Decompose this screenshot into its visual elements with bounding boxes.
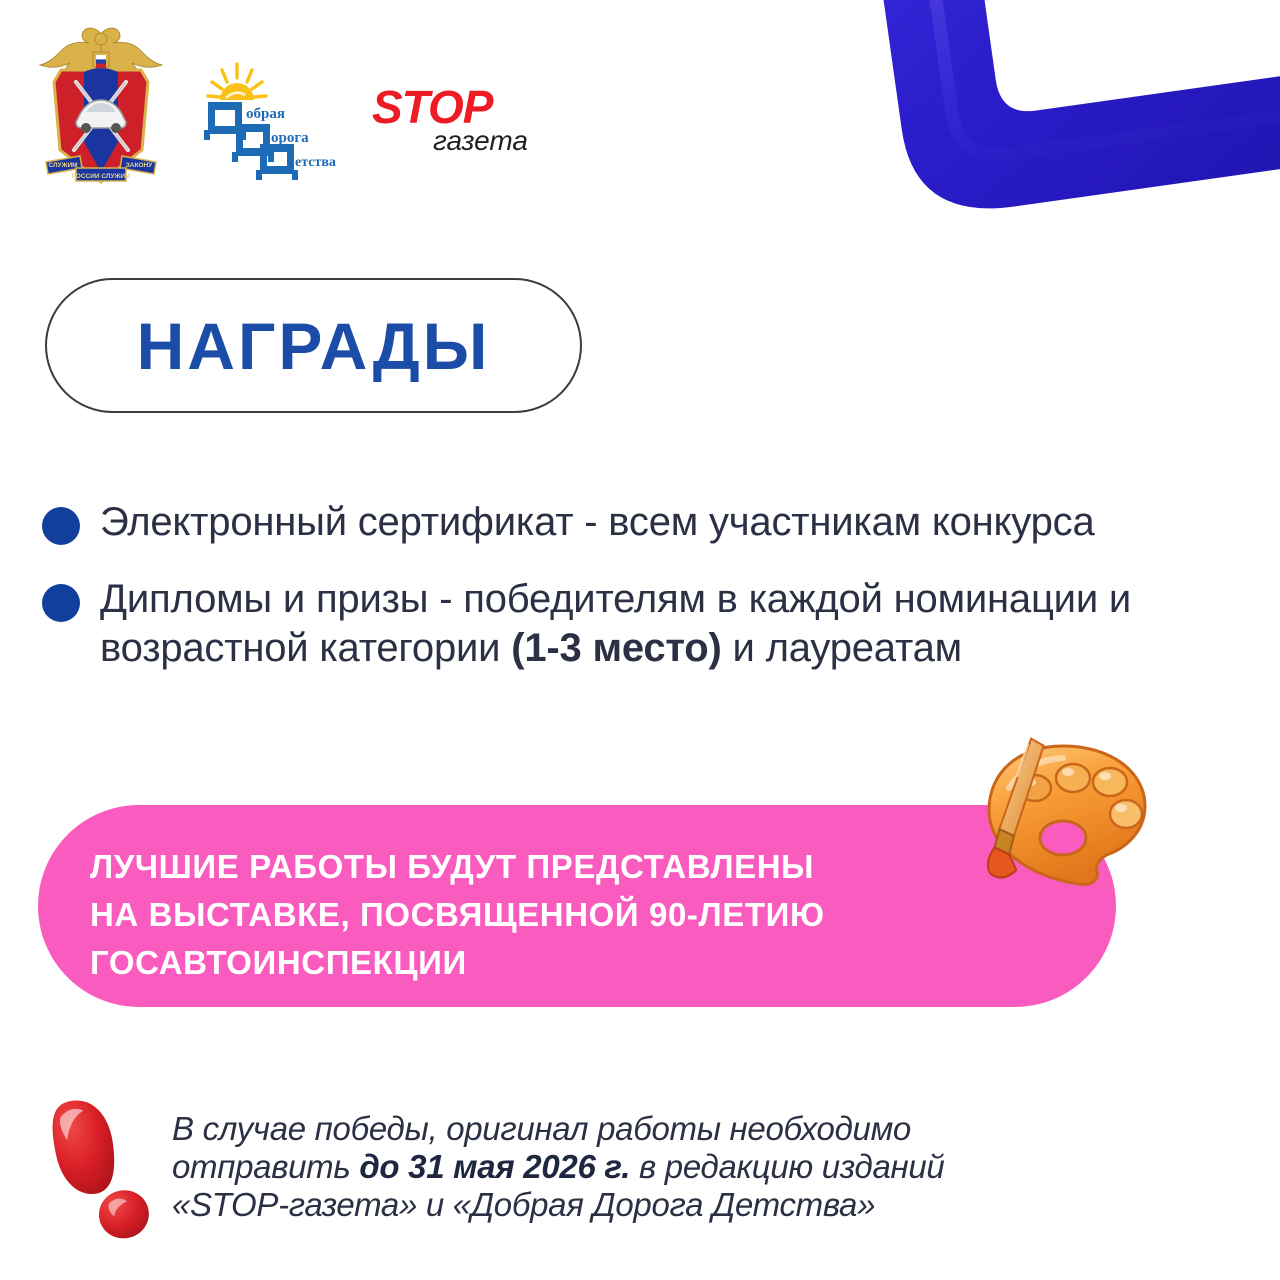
stop-gazeta-logo: STOP газета — [372, 85, 542, 165]
bullet-diplomas-bold: (1-3 место) — [511, 626, 721, 670]
svg-text:ЗАКОНУ: ЗАКОНУ — [126, 162, 153, 169]
logo-row: СЛУЖИМ ЗАКОНУ РОССИИ СЛУЖИМ — [0, 0, 600, 200]
submission-note: В случае победы, оригинал работы необход… — [172, 1110, 1032, 1224]
poster-canvas: СЛУЖИМ ЗАКОНУ РОССИИ СЛУЖИМ — [0, 0, 1280, 1280]
exhibition-callout-text: ЛУЧШИЕ РАБОТЫ БУДУТ ПРЕДСТАВЛЕНЫНА ВЫСТА… — [90, 843, 825, 987]
exclamation-mark-icon — [22, 1090, 172, 1250]
bullet-diplomas-part2: и лауреатам — [722, 626, 962, 670]
bullet-diplomas-text: Дипломы и призы - победителям в каждой н… — [100, 575, 1257, 673]
callout-line-1: ЛУЧШИЕ РАБОТЫ БУДУТ ПРЕДСТАВЛЕНЫ — [90, 848, 814, 885]
svg-text:СЛУЖИМ: СЛУЖИМ — [48, 162, 77, 169]
list-item: Электронный сертификат - всем участникам… — [42, 498, 1257, 547]
svg-text:орога: орога — [271, 130, 309, 146]
bullet-dot-icon — [42, 507, 80, 545]
stop-word: STOP — [372, 85, 542, 129]
callout-line-3: ГОСАВТОИНСПЕКЦИИ — [90, 944, 467, 981]
callout-line-2: НА ВЫСТАВКЕ, ПОСВЯЩЕННОЙ 90-ЛЕТИЮ — [90, 896, 825, 933]
svg-text:етства: етства — [295, 155, 336, 170]
svg-text:обрая: обрая — [246, 106, 285, 122]
blue-frame-corner-shape — [845, 0, 1280, 220]
awards-list: Электронный сертификат - всем участникам… — [42, 498, 1257, 701]
note-deadline: до 31 мая 2026 г. — [359, 1148, 630, 1185]
bullet-certificate-text: Электронный сертификат - всем участникам… — [100, 498, 1095, 547]
page-title-pill: НАГРАДЫ — [45, 278, 582, 413]
page-title: НАГРАДЫ — [137, 308, 491, 384]
list-item: Дипломы и призы - победителям в каждой н… — [42, 575, 1257, 673]
bullet-dot-icon — [42, 584, 80, 622]
svg-text:РОССИИ СЛУЖИМ: РОССИИ СЛУЖИМ — [72, 173, 131, 180]
exhibition-callout: ЛУЧШИЕ РАБОТЫ БУДУТ ПРЕДСТАВЛЕНЫНА ВЫСТА… — [38, 805, 1116, 1007]
mvd-emblem-icon: СЛУЖИМ ЗАКОНУ РОССИИ СЛУЖИМ — [36, 22, 166, 194]
dobraya-doroga-detstva-logo: обрая орога етства — [192, 58, 352, 183]
